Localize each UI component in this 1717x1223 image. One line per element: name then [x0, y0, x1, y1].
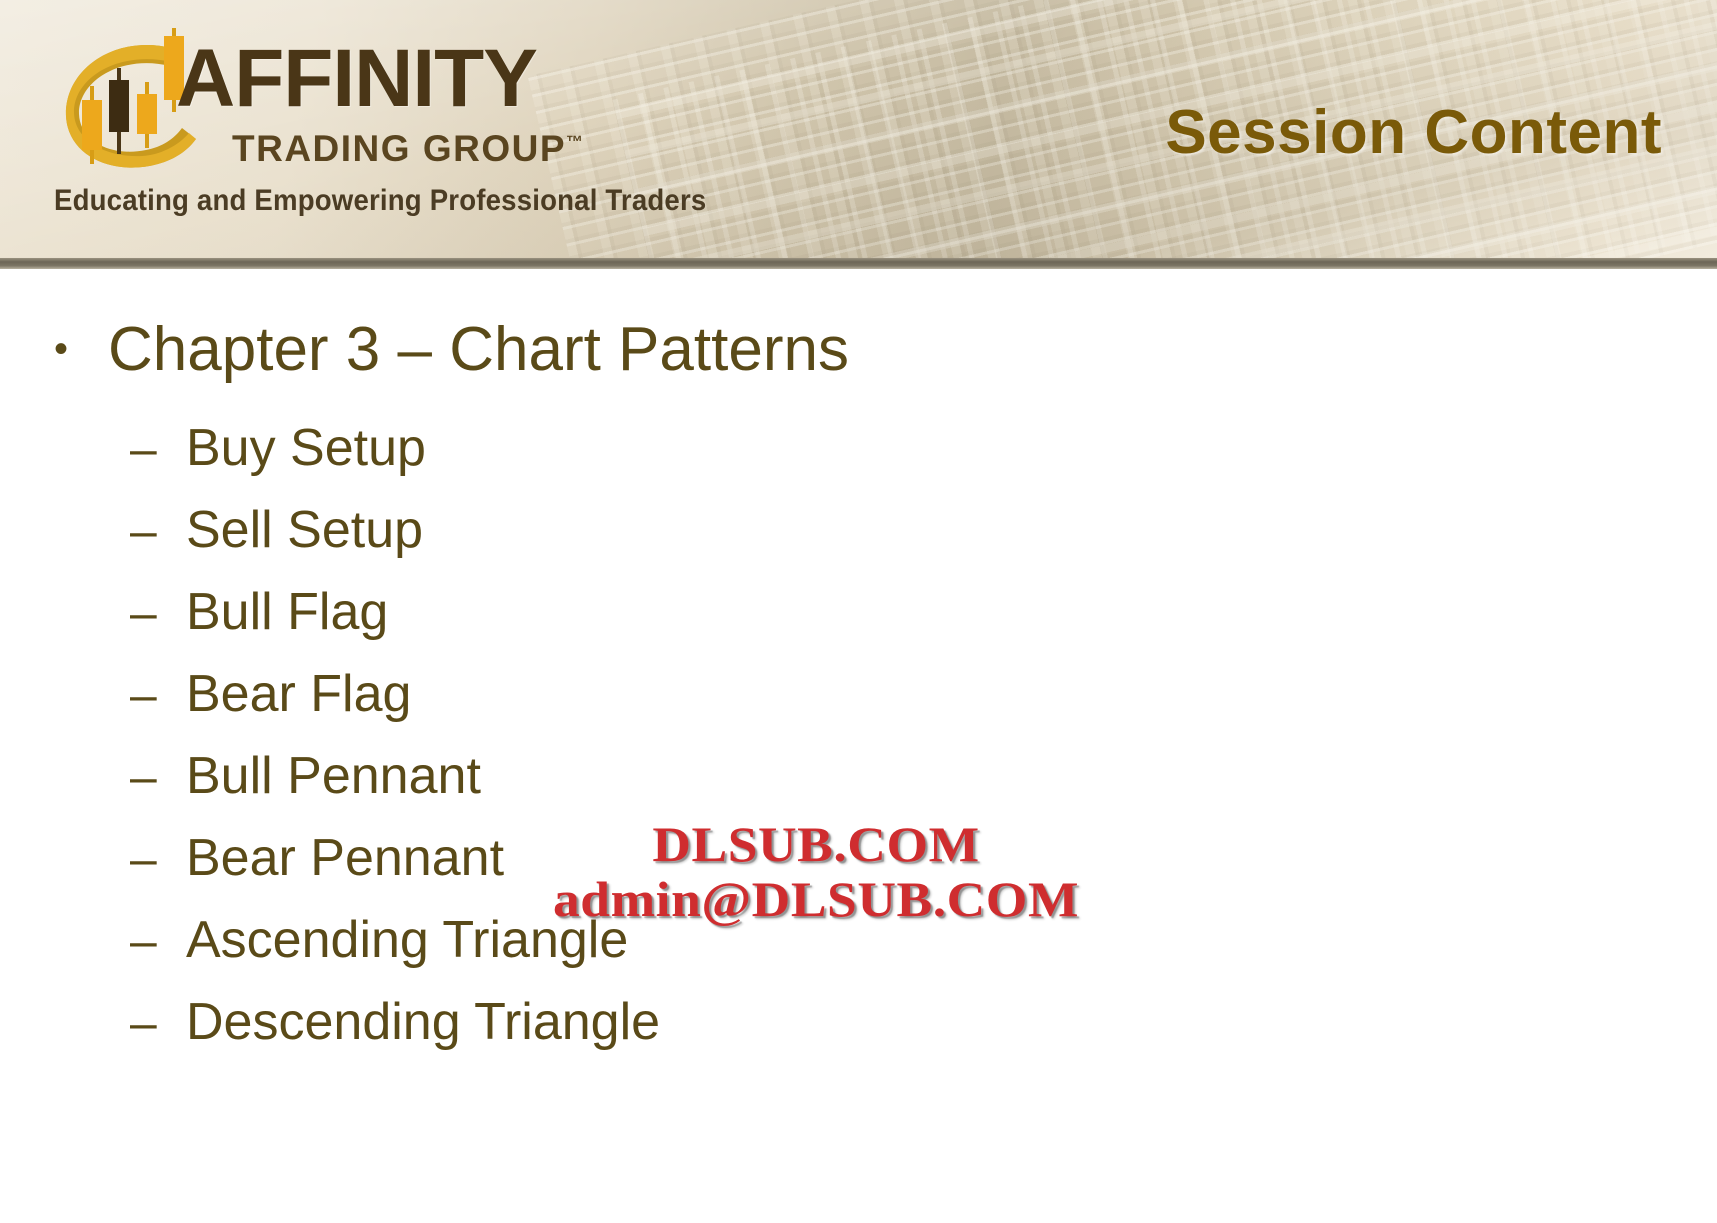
list-item-label: Sell Setup — [186, 504, 423, 556]
dash-bullet-icon: – — [130, 426, 186, 474]
list-item-label: Bear Pennant — [186, 832, 504, 884]
slide-header: AFFINITY TRADING GROUP™ Educating and Em… — [0, 0, 1717, 258]
list-item: – Buy Setup — [130, 422, 1630, 504]
list-item-label: Bull Pennant — [186, 750, 481, 802]
list-item: – Sell Setup — [130, 504, 1630, 586]
list-item-label: Chapter 3 – Chart Patterns — [108, 317, 849, 384]
list-item: – Bull Pennant — [130, 750, 1630, 832]
list-item-label: Bull Flag — [186, 586, 388, 638]
dash-bullet-icon: – — [130, 918, 186, 966]
logo-subtitle-text: TRADING GROUP — [232, 128, 566, 169]
logo-tagline: Educating and Empowering Professional Tr… — [54, 184, 706, 218]
bullet-dot-icon: • — [40, 317, 108, 381]
dash-bullet-icon: – — [130, 672, 186, 720]
slide-body: • Chapter 3 – Chart Patterns – Buy Setup… — [0, 269, 1717, 1223]
dash-bullet-icon: – — [130, 754, 186, 802]
list-item-label: Ascending Triangle — [186, 914, 628, 966]
affinity-logo: AFFINITY TRADING GROUP™ Educating and Em… — [44, 14, 664, 239]
bullet-list-level1: • Chapter 3 – Chart Patterns — [40, 317, 1640, 384]
header-divider-rule — [0, 258, 1717, 269]
bullet-list-level2: – Buy Setup – Sell Setup – Bull Flag – B… — [130, 422, 1630, 1078]
logo-subtitle: TRADING GROUP™ — [232, 130, 583, 167]
dash-bullet-icon: – — [130, 1000, 186, 1048]
list-item: – Bear Pennant — [130, 832, 1630, 914]
list-item: – Bull Flag — [130, 586, 1630, 668]
list-item-label: Descending Triangle — [186, 996, 660, 1048]
dash-bullet-icon: – — [130, 590, 186, 638]
dash-bullet-icon: – — [130, 836, 186, 884]
list-item: • Chapter 3 – Chart Patterns — [40, 317, 1640, 384]
logo-wordmark: AFFINITY — [176, 38, 537, 120]
list-item-label: Buy Setup — [186, 422, 426, 474]
page-title: Session Content — [1165, 97, 1662, 168]
list-item: – Bear Flag — [130, 668, 1630, 750]
list-item: – Descending Triangle — [130, 996, 1630, 1078]
dash-bullet-icon: – — [130, 508, 186, 556]
list-item-label: Bear Flag — [186, 668, 411, 720]
logo-trademark-symbol: ™ — [566, 133, 583, 152]
list-item: – Ascending Triangle — [130, 914, 1630, 996]
